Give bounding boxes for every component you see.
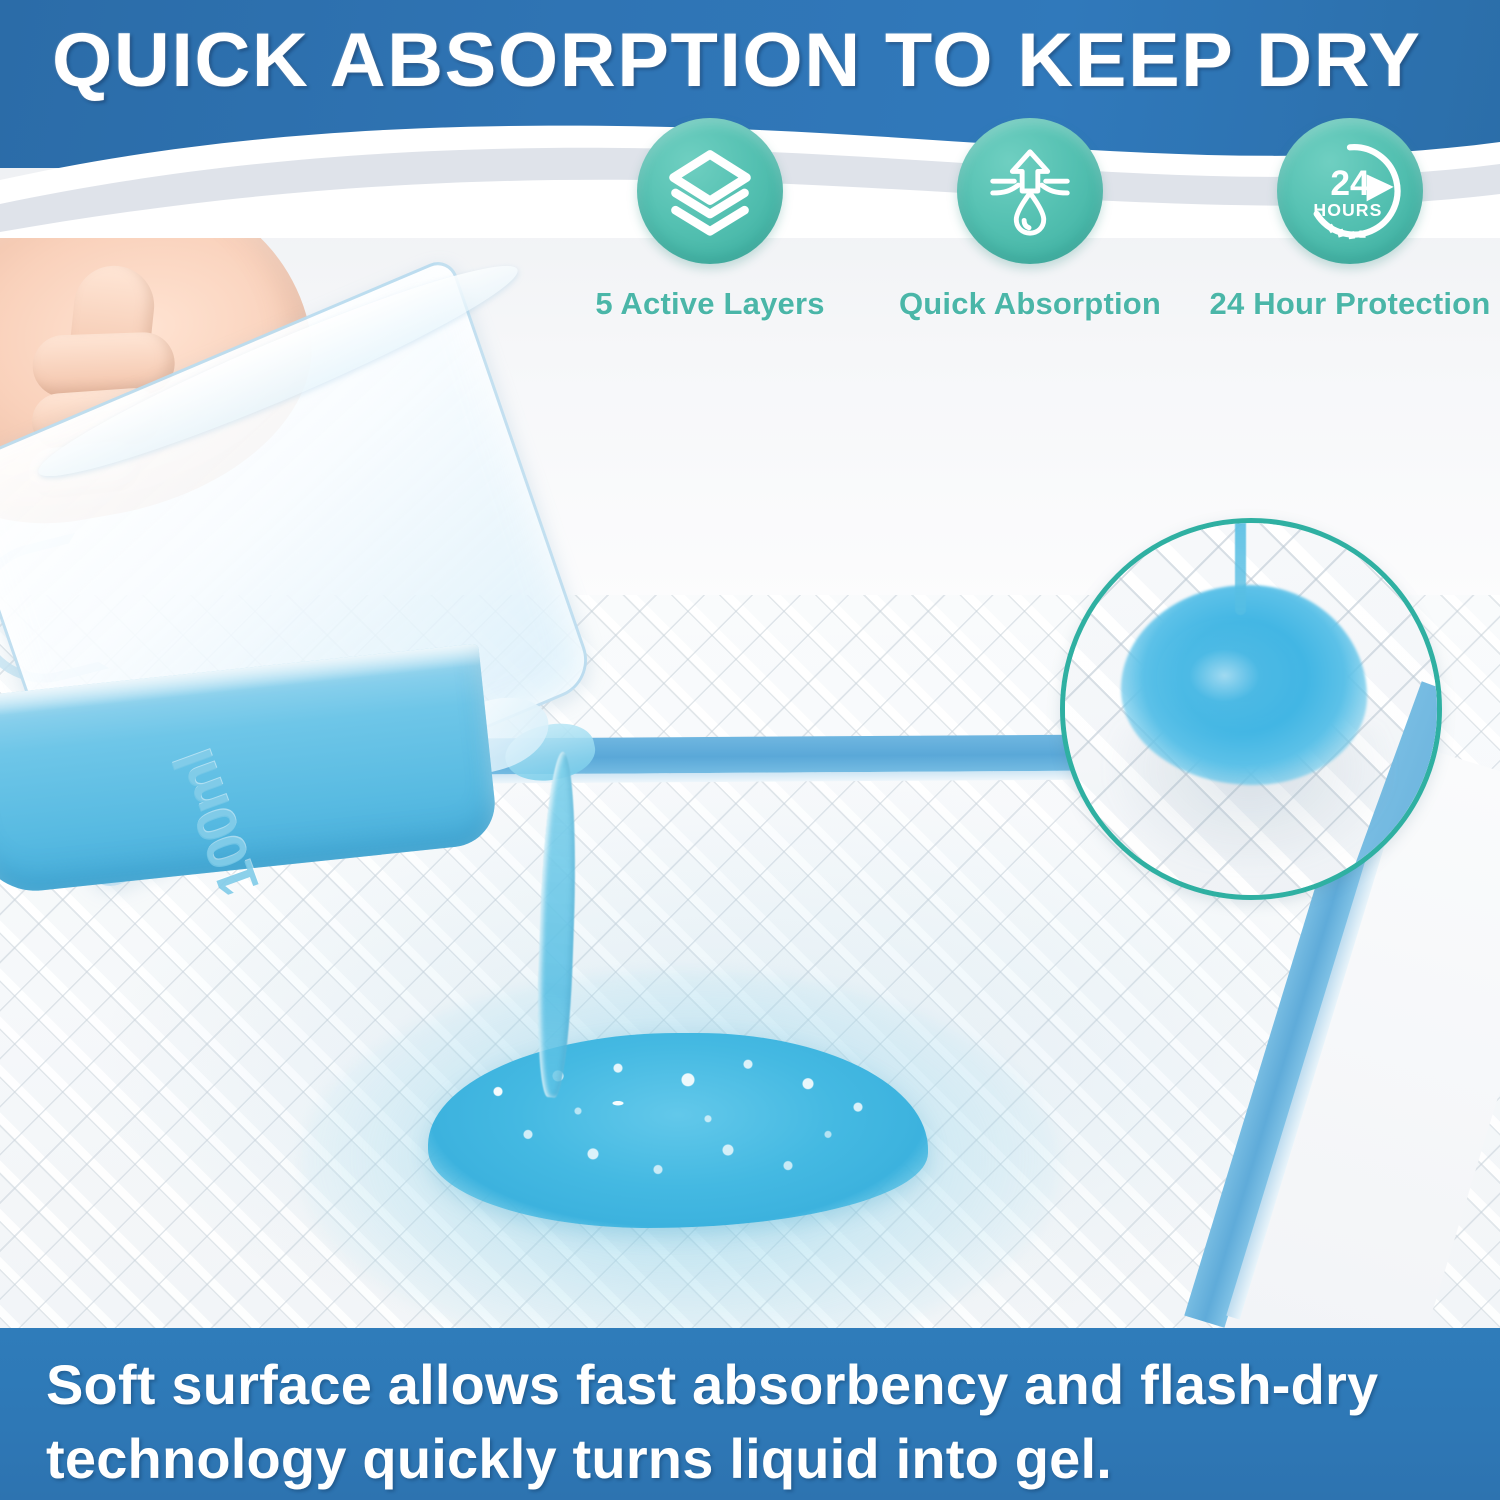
feature-item-absorption[interactable]: Quick Absorption bbox=[880, 118, 1180, 322]
quick-absorption-arrow-droplet-icon bbox=[981, 142, 1079, 240]
badge-24-text: 24 bbox=[1330, 164, 1370, 203]
feature-label-24hour: 24 Hour Protection bbox=[1210, 286, 1491, 322]
gel-puddle bbox=[428, 1033, 928, 1228]
gel-crystal-sparkles bbox=[428, 1033, 928, 1228]
feature-badge-circle bbox=[637, 118, 783, 264]
feature-badge-row: 5 Active Layers Quick Absorption bbox=[560, 118, 1500, 463]
24-hour-clock-arrow-icon: 24 HOURS bbox=[1298, 139, 1402, 243]
footer-text-line-1: Soft surface allows fast absorbency and … bbox=[46, 1348, 1454, 1422]
footer-banner: Soft surface allows fast absorbency and … bbox=[0, 1328, 1500, 1500]
feature-label-absorption: Quick Absorption bbox=[899, 286, 1161, 322]
closeup-inset-circle bbox=[1060, 518, 1442, 900]
header-title: QUICK ABSORPTION TO KEEP DRY bbox=[52, 20, 1421, 102]
feature-badge-circle: 24 HOURS bbox=[1277, 118, 1423, 264]
badge-hours-text: HOURS bbox=[1313, 200, 1382, 220]
feature-item-24hour[interactable]: 24 HOURS 24 Hour Protection bbox=[1200, 118, 1500, 322]
feature-badge-circle bbox=[957, 118, 1103, 264]
layers-stack-icon bbox=[662, 143, 758, 239]
product-feature-banner: QUICK ABSORPTION TO KEEP DRY bbox=[0, 0, 1500, 1500]
inset-liquid-highlight bbox=[1157, 618, 1307, 738]
measuring-pitcher: 100ml bbox=[0, 330, 570, 850]
feature-label-layers: 5 Active Layers bbox=[595, 286, 824, 322]
feature-item-layers[interactable]: 5 Active Layers bbox=[560, 118, 860, 322]
footer-text-line-2: technology quickly turns liquid into gel… bbox=[46, 1422, 1454, 1496]
inset-liquid-drip bbox=[1235, 518, 1246, 615]
